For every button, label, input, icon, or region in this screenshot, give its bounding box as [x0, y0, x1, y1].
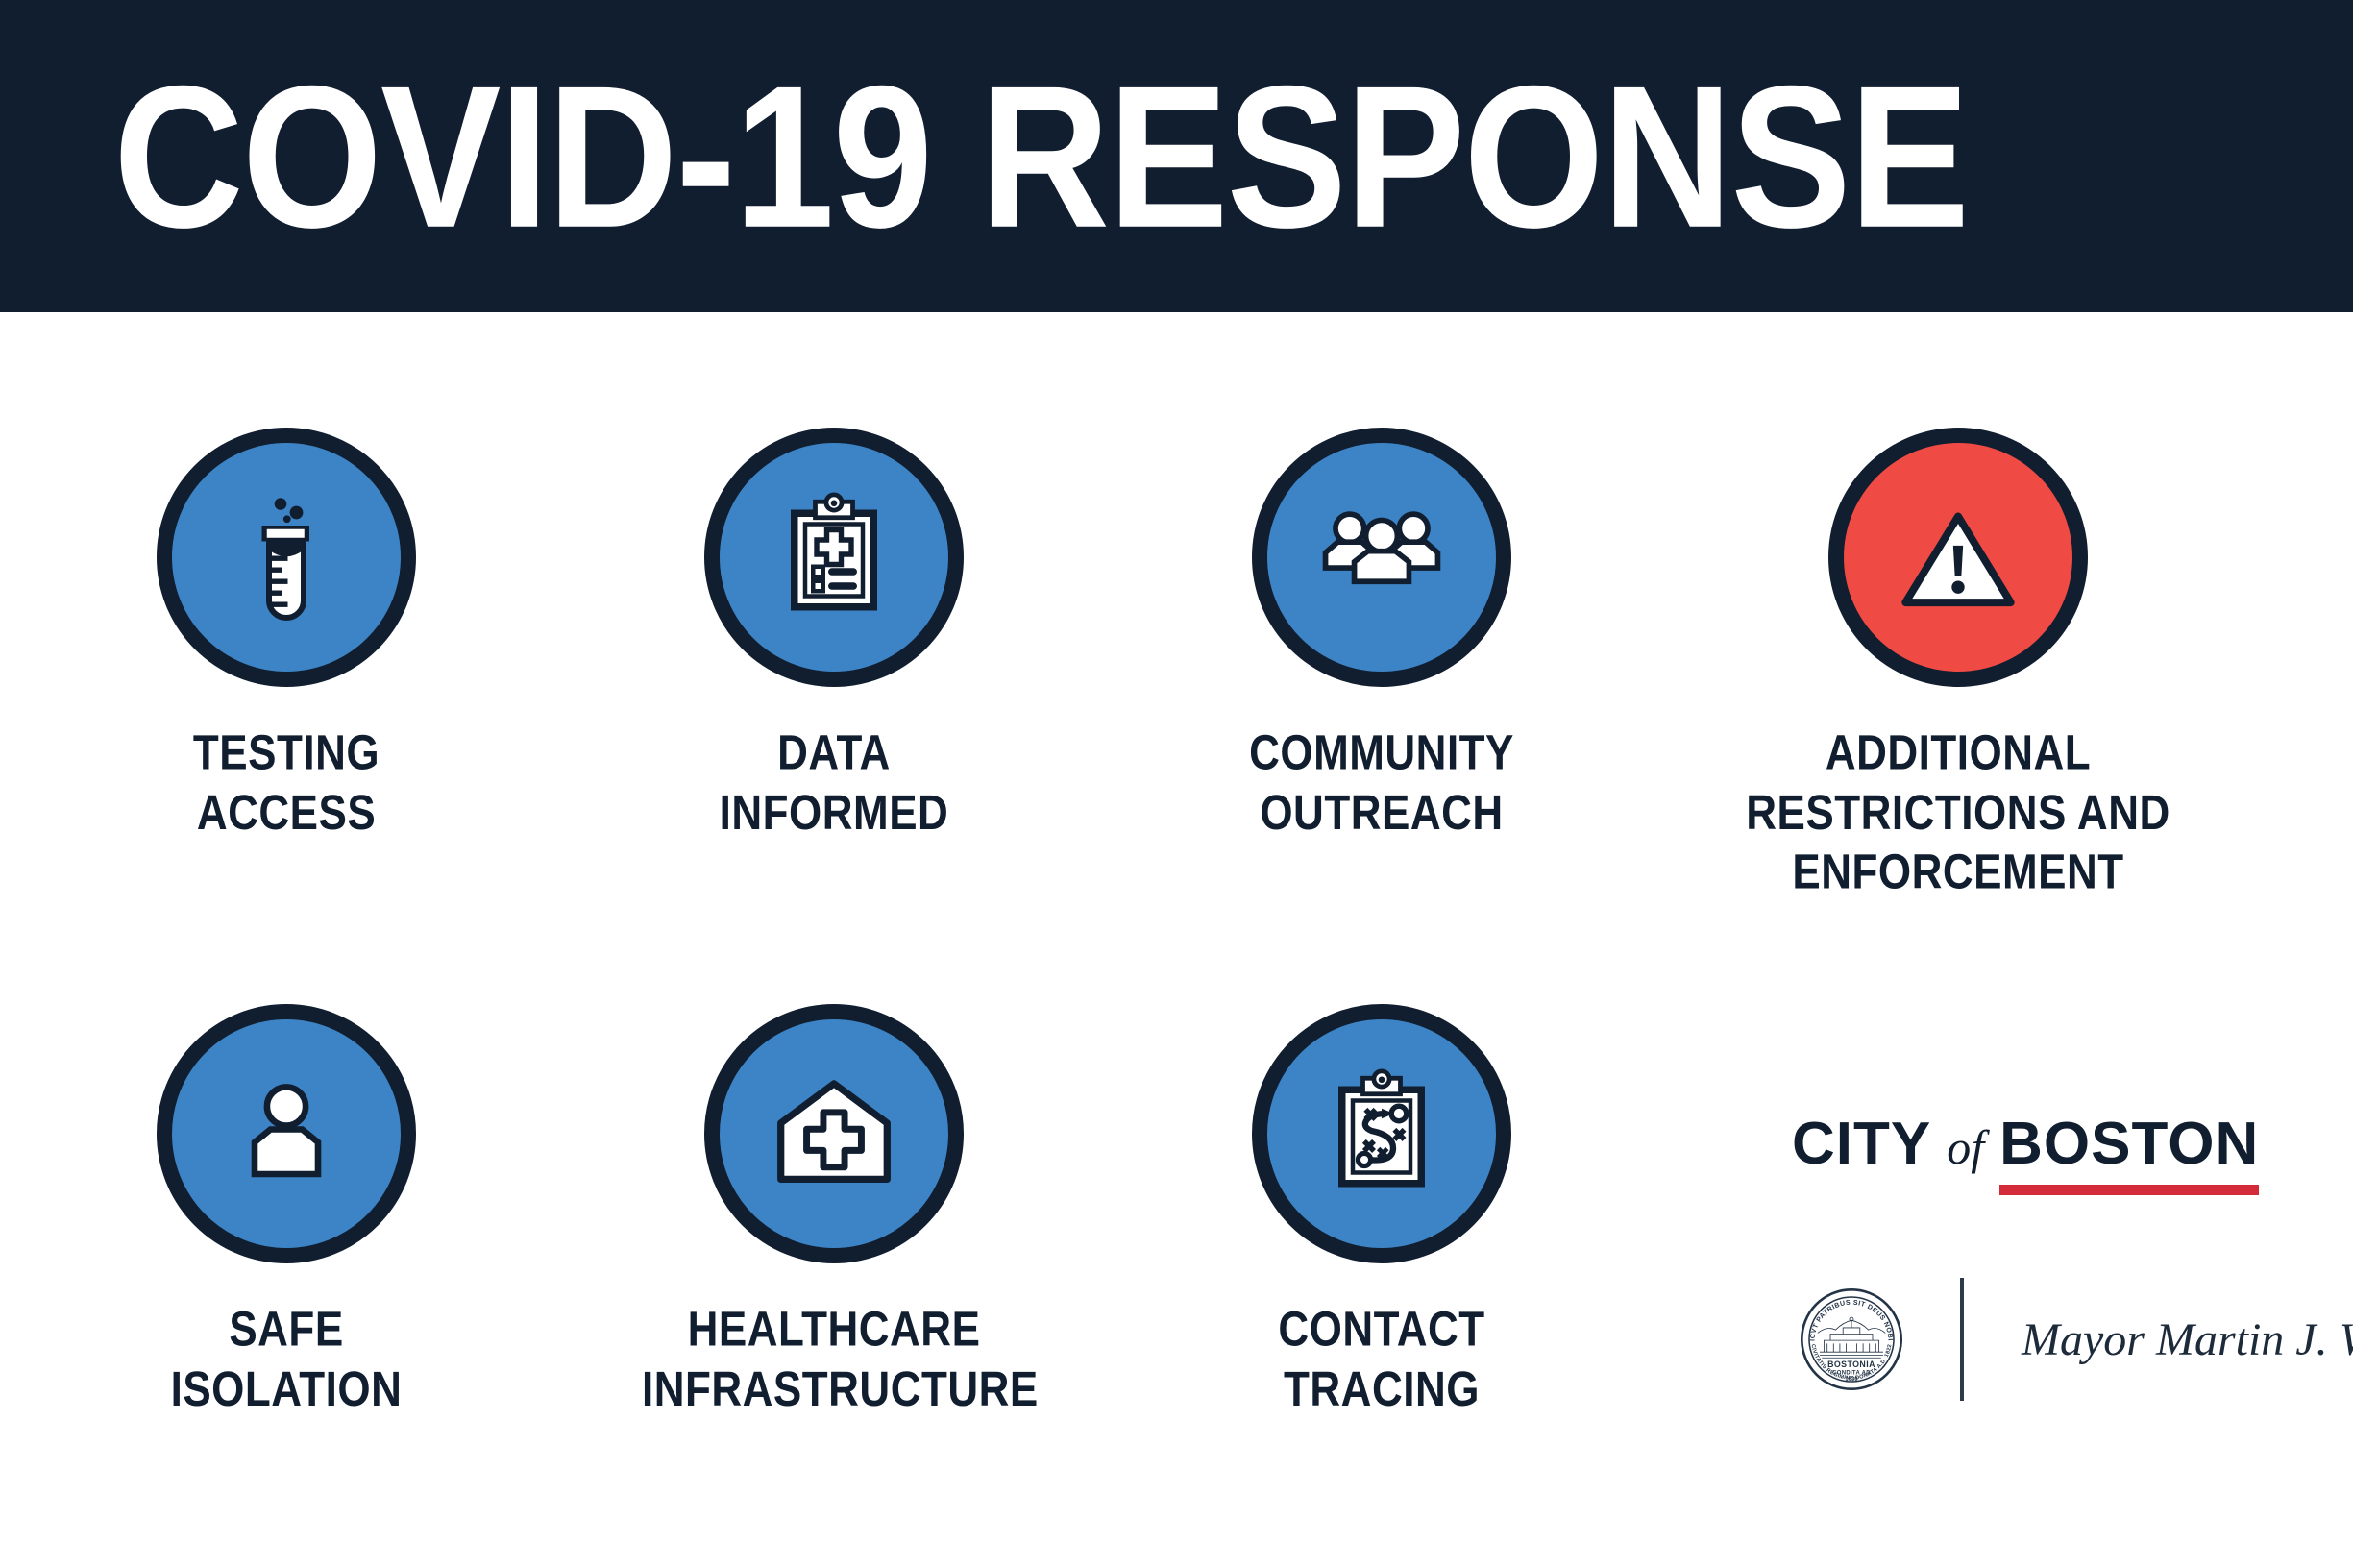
svg-text:CONDITA AD: CONDITA AD	[1832, 1370, 1871, 1376]
pillar-contact-tracing[interactable]: CONTACT TRACING	[1189, 1004, 1574, 1403]
pillar-safe-isolation[interactable]: SAFE ISOLATION	[94, 1004, 478, 1403]
icon-circle	[157, 1004, 416, 1263]
icon-circle	[157, 428, 416, 687]
person-icon	[214, 1062, 358, 1206]
pillar-data-informed[interactable]: DATA INFORMED	[642, 428, 1026, 826]
hospital-house-icon	[758, 1058, 910, 1210]
header-banner: COVID-19 RESPONSE	[0, 0, 2353, 312]
pillar-label: DATA INFORMED	[642, 723, 1026, 844]
boston-city-seal-icon: SICVT PATRIBUS SIT DEUS NOBIS CIVITATIS …	[1799, 1286, 1904, 1392]
icon-circle	[1252, 428, 1511, 687]
vertical-divider	[1960, 1278, 1964, 1401]
icon-circle	[1828, 428, 2088, 687]
clipboard-medical-icon	[762, 485, 906, 629]
city-of-boston-logo: CITY of BOSTON	[1792, 1110, 2330, 1178]
wordmark-city: CITY	[1792, 1110, 1931, 1178]
pillar-additional-restrictions[interactable]: ADDITIONAL RESTRICTIONS AND ENFORCEMENT	[1737, 428, 2179, 878]
wordmark-boston-wrap: BOSTON	[1999, 1110, 2259, 1178]
test-tube-icon	[214, 485, 358, 629]
mayor-signature-block: SICVT PATRIBUS SIT DEUS NOBIS CIVITATIS …	[1799, 1278, 2353, 1401]
pillar-label: CONTACT TRACING	[1189, 1300, 1574, 1420]
warning-triangle-icon	[1885, 484, 2031, 630]
pillar-label: SAFE ISOLATION	[94, 1300, 478, 1420]
pillar-healthcare-infrastructure[interactable]: HEALTHCARE INFRASTRUCTURE	[642, 1004, 1026, 1403]
mayor-name: Mayor Martin J. Walsh	[2022, 1313, 2353, 1366]
icon-circle	[1252, 1004, 1511, 1263]
page-title: COVID-19 RESPONSE	[113, 55, 1968, 257]
clipboard-strategy-icon	[1310, 1062, 1454, 1206]
wordmark-boston: BOSTON	[1999, 1111, 2259, 1177]
red-underline-rule	[1999, 1185, 2259, 1195]
pillar-community-outreach[interactable]: COMMUNITY OUTREACH	[1189, 428, 1574, 826]
pillar-label: ADDITIONAL RESTRICTIONS AND ENFORCEMENT	[1737, 723, 2179, 903]
wordmark: CITY of BOSTON	[1792, 1110, 2330, 1178]
pillar-label: HEALTHCARE INFRASTRUCTURE	[642, 1300, 1026, 1420]
pillar-label: COMMUNITY OUTREACH	[1189, 723, 1574, 844]
pillar-label: TESTING ACCESS	[94, 723, 478, 844]
icon-circle	[704, 428, 964, 687]
wordmark-of: of	[1947, 1119, 1984, 1175]
icon-circle	[704, 1004, 964, 1263]
svg-text:1630: 1630	[1845, 1377, 1858, 1383]
people-group-icon	[1306, 481, 1458, 633]
pillar-testing-access[interactable]: TESTING ACCESS	[94, 428, 478, 826]
svg-text:BOSTONIA: BOSTONIA	[1827, 1360, 1875, 1369]
covid-response-poster: COVID-19 RESPONSE	[0, 0, 2353, 1568]
